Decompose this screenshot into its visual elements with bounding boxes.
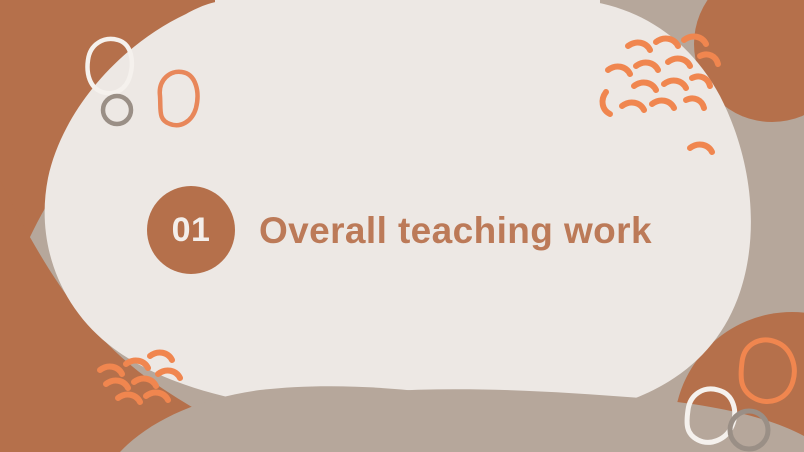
section-number-badge: 01: [147, 186, 235, 274]
slide-canvas: 01 Overall teaching work: [0, 0, 804, 452]
section-number-label: 01: [172, 213, 211, 247]
slide-heading-group: 01 Overall teaching work: [147, 186, 652, 274]
slide-title: Overall teaching work: [259, 212, 652, 249]
